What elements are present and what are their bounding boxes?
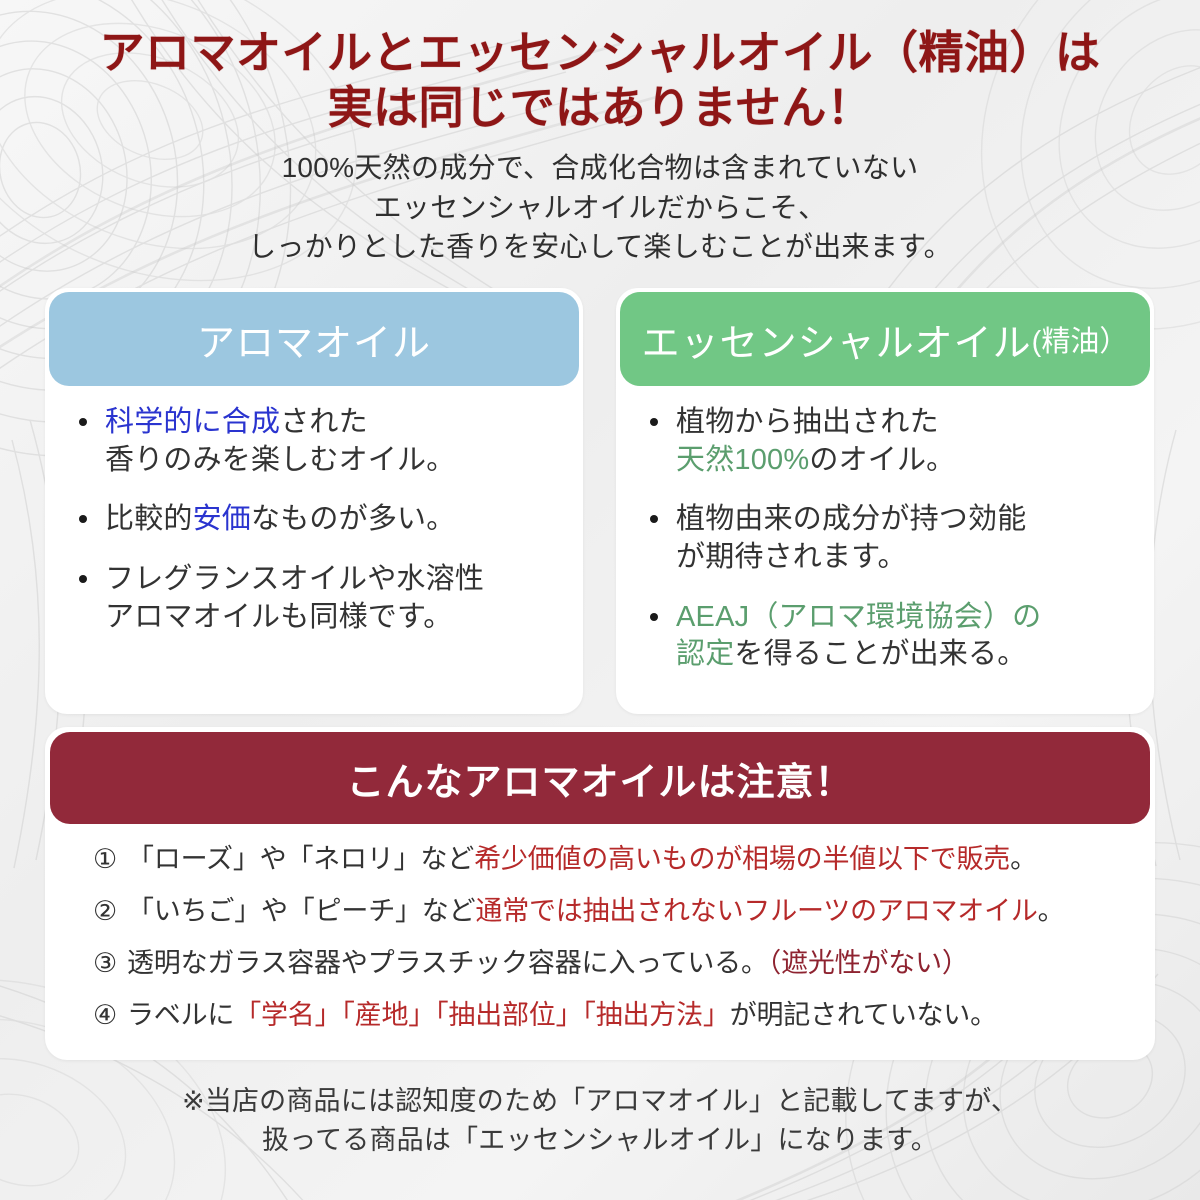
list-item: ④ラベルに「学名」「産地」「抽出部位」「抽出方法」が明記されていない。 — [93, 998, 1131, 1033]
aroma-bullet-2-pre: 比較的 — [105, 503, 193, 535]
warning-item-2-pre: 「いちご」や「ピーチ」など — [127, 896, 475, 926]
footer-note-line1: ※当店の商品には認知度のため「アロマオイル」と記載してますが、 — [0, 1082, 1200, 1121]
list-item: 植物から抽出された 天然100%のオイル。 — [638, 404, 1134, 479]
card-header-essential-oil-sublabel: (精油） — [1032, 318, 1129, 360]
warning-item-1-highlight: 希少価値の高いものが相場の半値以下で販売 — [474, 844, 1010, 874]
essential-bullet-1-line2: 天然100%のオイル。 — [676, 442, 1134, 480]
aroma-bullet-1-line2: 香りのみを楽しむオイル。 — [105, 442, 563, 480]
warning-item-3-pre: 透明なガラス容器やプラスチック容器に入っている。 — [127, 948, 768, 978]
essential-bullet-3-line2: 認定を得ることが出来る。 — [676, 636, 1134, 674]
essential-bullet-3-rest: を得ることが出来る。 — [734, 638, 1026, 670]
warning-item-4-number: ④ — [93, 998, 127, 1033]
essential-bullet-1-highlight: 天然100% — [676, 444, 809, 476]
card-essential-oil: エッセンシャルオイル(精油） 植物から抽出された 天然100%のオイル。 植物由… — [616, 288, 1154, 714]
list-item: フレグランスオイルや水溶性 アロマオイルも同様です。 — [67, 561, 563, 636]
list-item: 比較的安価なものが多い。 — [67, 501, 563, 539]
infographic-page: アロマオイルとエッセンシャルオイル（精油）は 実は同じではありません！ 100%… — [0, 0, 1200, 1200]
warning-item-4-pre: ラベルに — [127, 1000, 234, 1030]
essential-bullet-2-line1: 植物由来の成分が持つ効能 — [676, 503, 1026, 535]
essential-oil-bullet-list: 植物から抽出された 天然100%のオイル。 植物由来の成分が持つ効能 が期待され… — [616, 386, 1154, 674]
aroma-bullet-2-highlight: 安価 — [193, 503, 251, 535]
essential-bullet-3-line1: AEAJ（アロマ環境協会）の — [676, 601, 1041, 633]
list-item: 植物由来の成分が持つ効能 が期待されます。 — [638, 501, 1134, 576]
list-item: ③透明なガラス容器やプラスチック容器に入っている。（遮光性がない） — [93, 946, 1131, 981]
warning-item-3-highlight: （遮光性がない） — [768, 948, 969, 978]
warning-panel: こんなアロマオイルは注意！ ①「ローズ」や「ネロリ」など希少価値の高いものが相場… — [45, 727, 1155, 1060]
essential-bullet-1-rest: のオイル。 — [809, 444, 955, 476]
footer-note-line2: 扱ってる商品は「エッセンシャルオイル」になります。 — [0, 1121, 1200, 1160]
warning-banner: こんなアロマオイルは注意！ — [50, 732, 1150, 824]
page-title: アロマオイルとエッセンシャルオイル（精油）は 実は同じではありません！ — [0, 0, 1200, 136]
card-header-essential-oil-label: エッセンシャルオイル — [642, 312, 1032, 367]
card-header-essential-oil: エッセンシャルオイル(精油） — [620, 292, 1150, 386]
intro-paragraph: 100%天然の成分で、合成化合物は含まれていない エッセンシャルオイルだからこそ… — [0, 148, 1200, 267]
intro-line-2: エッセンシャルオイルだからこそ、 — [0, 188, 1200, 228]
intro-line-1: 100%天然の成分で、合成化合物は含まれていない — [0, 148, 1200, 188]
list-item: 科学的に合成された 香りのみを楽しむオイル。 — [67, 404, 563, 479]
list-item: ②「いちご」や「ピーチ」など通常では抽出されないフルーツのアロマオイル。 — [93, 894, 1131, 929]
warning-banner-label: こんなアロマオイルは注意！ — [346, 751, 853, 806]
warning-item-3-number: ③ — [93, 946, 127, 981]
essential-bullet-2-line2: が期待されます。 — [676, 539, 1134, 577]
essential-bullet-3-highlight: 認定 — [676, 638, 734, 670]
aroma-oil-bullet-list: 科学的に合成された 香りのみを楽しむオイル。 比較的安価なものが多い。 フレグラ… — [45, 386, 583, 636]
warning-item-1-number: ① — [93, 842, 127, 877]
card-header-aroma-oil-label: アロマオイル — [197, 312, 431, 367]
comparison-cards: アロマオイル 科学的に合成された 香りのみを楽しむオイル。 比較的安価なものが多… — [45, 288, 1155, 714]
warning-item-2-number: ② — [93, 894, 127, 929]
aroma-bullet-1-highlight: 科学的に合成 — [105, 406, 280, 438]
intro-line-3: しっかりとした香りを安心して楽しむことが出来ます。 — [0, 227, 1200, 267]
list-item: AEAJ（アロマ環境協会）の 認定を得ることが出来る。 — [638, 599, 1134, 674]
warning-item-list: ①「ローズ」や「ネロリ」など希少価値の高いものが相場の半値以下で販売。 ②「いち… — [45, 824, 1155, 1033]
warning-item-1-pre: 「ローズ」や「ネロリ」など — [127, 844, 474, 874]
essential-bullet-1-line1: 植物から抽出された — [676, 406, 939, 438]
aroma-bullet-2-post: なものが多い。 — [251, 503, 455, 535]
page-title-line2: 実は同じではありません！ — [0, 81, 1200, 136]
warning-item-4-highlight: 「学名」「産地」「抽出部位」「抽出方法」 — [234, 1000, 730, 1030]
warning-item-1-post: 。 — [1010, 844, 1037, 874]
card-header-aroma-oil: アロマオイル — [49, 292, 579, 386]
aroma-bullet-3-line1: フレグランスオイルや水溶性 — [105, 563, 484, 595]
list-item: ①「ローズ」や「ネロリ」など希少価値の高いものが相場の半値以下で販売。 — [93, 842, 1131, 877]
warning-item-2-highlight: 通常では抽出されないフルーツのアロマオイル — [475, 896, 1037, 926]
page-title-line1: アロマオイルとエッセンシャルオイル（精油）は — [99, 26, 1100, 79]
aroma-bullet-3-line2: アロマオイルも同様です。 — [105, 599, 563, 637]
warning-item-2-post: 。 — [1038, 896, 1065, 926]
warning-item-4-post: が明記されていない。 — [730, 1000, 997, 1030]
footer-note: ※当店の商品には認知度のため「アロマオイル」と記載してますが、 扱ってる商品は「… — [0, 1082, 1200, 1160]
aroma-bullet-1-rest: された — [280, 406, 368, 438]
card-aroma-oil: アロマオイル 科学的に合成された 香りのみを楽しむオイル。 比較的安価なものが多… — [45, 288, 583, 714]
